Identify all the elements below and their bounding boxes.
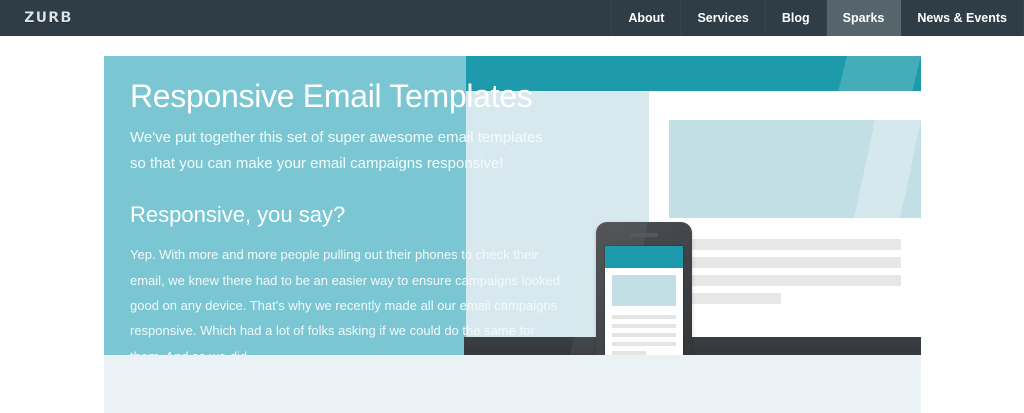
phone-text-line <box>612 342 676 346</box>
hero-copy: Responsive Email Templates We've put tog… <box>130 78 590 369</box>
nav-item-services[interactable]: Services <box>681 0 765 36</box>
nav-item-news-events[interactable]: News & Events <box>901 0 1024 36</box>
hero-subheading: Responsive, you say? <box>130 202 590 228</box>
hero-body-paragraph: Yep. With more and more people pulling o… <box>130 242 566 369</box>
hero-lede-line-1: We've put together this set of super awe… <box>130 125 590 152</box>
page-body: Responsive Email Templates We've put tog… <box>0 36 1024 413</box>
zurb-logo[interactable]: ZURB <box>24 10 73 26</box>
monitor-email-hero-image <box>669 120 921 218</box>
hero-bottom-pale-strip <box>104 355 921 413</box>
monitor-text-line <box>669 275 901 286</box>
primary-navigation: About Services Blog Sparks News & Events <box>611 0 1024 36</box>
phone-email-header-band <box>605 246 683 268</box>
phone-speaker-grille <box>630 233 658 237</box>
phone-text-line <box>612 333 676 337</box>
hero-lede-line-2: so that you can make your email campaign… <box>130 151 590 178</box>
hero-banner: Responsive Email Templates We've put tog… <box>104 56 921 413</box>
top-navigation-bar: ZURB About Services Blog Sparks News & E… <box>0 0 1024 36</box>
monitor-header-gloss <box>838 56 921 91</box>
nav-item-blog[interactable]: Blog <box>766 0 827 36</box>
phone-text-line <box>612 315 676 319</box>
monitor-text-line <box>669 257 901 268</box>
phone-email-hero-image <box>612 275 676 306</box>
nav-item-sparks[interactable]: Sparks <box>827 0 902 36</box>
hero-text-column: Responsive Email Templates We've put tog… <box>104 56 464 355</box>
phone-text-line <box>612 324 676 328</box>
monitor-text-line <box>669 239 901 250</box>
monitor-hero-gloss <box>854 120 921 218</box>
hero-heading: Responsive Email Templates <box>130 78 590 115</box>
nav-item-about[interactable]: About <box>611 0 681 36</box>
